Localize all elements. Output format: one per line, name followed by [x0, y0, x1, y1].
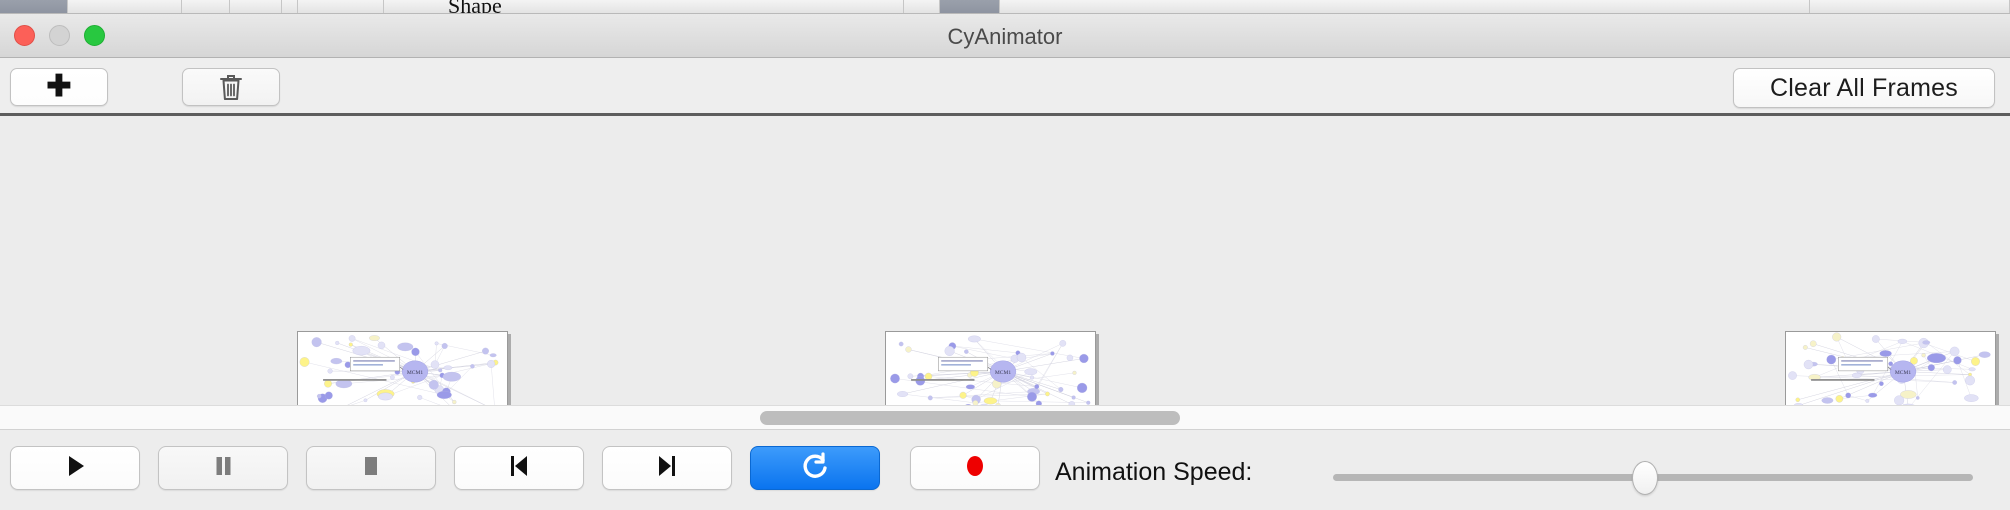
skip-to-end-button[interactable] [602, 446, 732, 490]
loop-icon [799, 450, 831, 487]
skip-forward-icon [652, 451, 682, 486]
clear-all-frames-button[interactable]: Clear All Frames [1733, 68, 1995, 108]
trash-icon [218, 72, 244, 102]
playback-control-bar: Animation Speed: [0, 429, 2010, 507]
window-titlebar: CyAnimator [0, 14, 2010, 58]
toolbar: ✚ Clear All Frames [0, 58, 2010, 116]
plus-icon: ✚ [46, 72, 71, 102]
background-segment-10 [1810, 0, 2010, 14]
loop-button[interactable] [750, 446, 880, 490]
timeline-scrollbar-track[interactable] [0, 405, 2010, 429]
background-segment-1 [68, 0, 182, 14]
skip-to-start-button[interactable] [454, 446, 584, 490]
background-partial-label: Shape [448, 0, 502, 14]
record-icon [960, 451, 990, 486]
background-segment-8 [940, 0, 1000, 14]
animation-speed-slider-thumb[interactable] [1632, 461, 1658, 495]
pause-button[interactable] [158, 446, 288, 490]
play-icon [60, 451, 90, 486]
record-button[interactable] [910, 446, 1040, 490]
stop-icon [356, 451, 386, 486]
background-segment-4 [282, 0, 298, 14]
pause-icon [208, 451, 238, 486]
background-segment-2 [182, 0, 230, 14]
background-segment-9 [1000, 0, 1810, 14]
skip-back-icon [504, 451, 534, 486]
stop-button[interactable] [306, 446, 436, 490]
svg-text:MCM1: MCM1 [995, 370, 1012, 376]
background-segment-0 [0, 0, 68, 14]
delete-frame-button[interactable] [182, 68, 280, 106]
background-segment-7 [904, 0, 940, 14]
timeline-scrollbar-thumb[interactable] [760, 411, 1180, 425]
page-title: CyAnimator [0, 24, 2010, 50]
svg-text:MCM1: MCM1 [407, 370, 424, 376]
add-frame-button[interactable]: ✚ [10, 68, 108, 106]
background-window-strip: Shape [0, 0, 2010, 14]
svg-text:MCM1: MCM1 [1895, 370, 1912, 376]
play-button[interactable] [10, 446, 140, 490]
background-segment-3 [230, 0, 282, 14]
animation-speed-label: Animation Speed: [1055, 458, 1252, 487]
background-segment-5 [298, 0, 384, 14]
cyanimator-window: CyAnimator ✚ Clear All Frames MCM1MCM1MC… [0, 14, 2010, 510]
timeline-panel[interactable]: MCM1MCM1MCM1 12131415161718 Seconds [0, 116, 2010, 429]
